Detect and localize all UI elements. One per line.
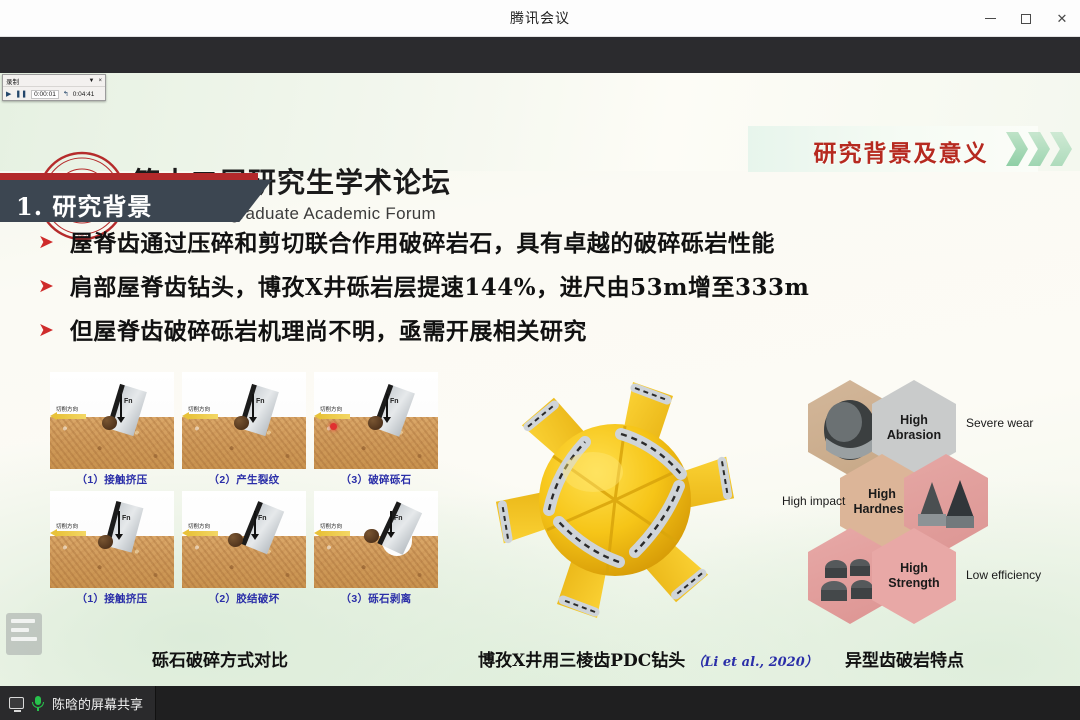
cutting-direction-arrow-icon — [56, 414, 86, 419]
figure-area: Fn 切削方向 （1）接触挤压 — [0, 368, 1080, 686]
force-label: Fn — [394, 515, 403, 522]
bullet-arrow-icon: ➤ — [38, 228, 54, 258]
cutting-direction-label: 切削方向 — [320, 405, 350, 413]
shared-slide: 1953 第十二届研究生学术论坛 The 12th Postgraduate A… — [0, 73, 1080, 686]
rock-step-label: （3）砾石剥离 — [314, 591, 438, 606]
bullet-arrow-icon: ➤ — [38, 316, 54, 346]
section-banner-text: 研究背景及意义 — [786, 134, 1016, 168]
cutting-direction-group: 切削方向 — [320, 405, 350, 419]
hex-label: HighAbrasion — [887, 413, 941, 443]
close-icon[interactable]: × — [98, 78, 102, 84]
normal-force-arrow-icon — [120, 394, 122, 418]
rock-cell: Fn 切削方向 （1）接触挤压 — [50, 372, 174, 487]
chevron-down-icon[interactable]: ▼ — [89, 78, 95, 84]
caption-center: 博孜X井用三棱齿PDC钻头（Li et al., 2020） — [478, 646, 818, 671]
rock-diagram: Fn 切削方向 — [182, 372, 306, 469]
caption-center-text: 博孜X井用三棱齿PDC钻头 — [478, 651, 685, 671]
screen-share-task[interactable]: 陈晗的屏幕共享 — [0, 686, 156, 720]
cutting-direction-group: 切削方向 — [320, 522, 350, 536]
rock-diagram: Fn 切削方向 — [314, 491, 438, 588]
cutter-characteristics-figure: HighAbrasion Severe wear HighHardness Hi… — [790, 372, 1075, 637]
rock-cell: Fn 切削方向 （3）破碎砾石 — [314, 372, 438, 487]
hex-label: HighStrength — [888, 561, 939, 591]
cutting-direction-arrow-icon — [188, 414, 218, 419]
recording-widget[interactable]: 录制 ▼ × ▶ ❚❚ 0:00:01 ↰ 0:04:41 — [2, 74, 106, 101]
play-icon[interactable]: ▶ — [6, 90, 11, 98]
cutting-direction-group: 切削方向 — [56, 522, 86, 536]
caption-left: 砾石破碎方式对比 — [152, 646, 288, 671]
elapsed-time: 0:00:01 — [31, 90, 59, 99]
chevron-right-icon-3 — [1050, 132, 1072, 166]
bullet-text: 屋脊齿通过压碎和剪切联合作用破碎岩石，具有卓越的破碎砾岩性能 — [70, 228, 775, 260]
close-icon: ✕ — [1057, 11, 1068, 27]
caption-citation: （Li et al., 2020） — [691, 655, 818, 670]
rock-diagram: Fn 切削方向 — [50, 491, 174, 588]
force-label: Fn — [122, 515, 131, 522]
floating-toolbar-overlay[interactable] — [6, 613, 42, 655]
pause-icon[interactable]: ❚❚ — [15, 90, 27, 98]
normal-force-arrow-icon — [252, 394, 254, 418]
rock-step-label: （1）接触挤压 — [50, 591, 174, 606]
normal-force-arrow-icon — [118, 511, 120, 535]
hex-label: HighHardness — [854, 487, 911, 517]
section-title-text: 1. 研究背景 — [16, 187, 152, 222]
force-label: Fn — [256, 398, 265, 405]
rock-row-2: Fn 切削方向 （1）接触挤压 — [50, 491, 440, 606]
rock-step-label: （2）产生裂纹 — [182, 472, 306, 487]
cutting-direction-group: 切削方向 — [188, 522, 218, 536]
normal-force-arrow-icon — [386, 394, 388, 418]
window-title: 腾讯会议 — [510, 8, 570, 28]
list-item: ➤ 屋脊齿通过压碎和剪切联合作用破碎岩石，具有卓越的破碎砾岩性能 — [38, 228, 1048, 260]
rock-cell: Fn 切削方向 （3）砾石剥离 — [314, 491, 438, 606]
rock-row-1: Fn 切削方向 （1）接触挤压 — [50, 372, 440, 487]
recording-widget-controls: ▶ ❚❚ 0:00:01 ↰ 0:04:41 — [3, 86, 105, 101]
cutting-direction-group: 切削方向 — [56, 405, 86, 419]
cutting-direction-label: 切削方向 — [188, 522, 218, 530]
minimize-button[interactable] — [972, 0, 1008, 37]
section-banner: 研究背景及意义 — [740, 126, 1080, 172]
cutting-direction-arrow-icon — [320, 531, 350, 536]
cutting-direction-label: 切削方向 — [188, 405, 218, 413]
rock-cell: Fn 切削方向 （2）产生裂纹 — [182, 372, 306, 487]
microphone-icon[interactable] — [31, 695, 45, 711]
normal-force-arrow-icon — [254, 511, 256, 535]
pdc-drill-bit-image — [455, 368, 775, 640]
app-window: 腾讯会议 ✕ 1953 第十二届研究生学术论坛 The 12th — [0, 0, 1080, 720]
label-high-impact: High impact — [782, 494, 845, 508]
bullet-text: 但屋脊齿破碎砾岩机理尚不明，亟需开展相关研究 — [70, 316, 587, 348]
rock-diagram: Fn 切削方向 — [50, 372, 174, 469]
toolbar-line — [11, 619, 35, 623]
cutting-direction-label: 切削方向 — [56, 405, 86, 413]
window-controls: ✕ — [972, 0, 1080, 37]
maximize-button[interactable] — [1008, 0, 1044, 37]
recording-widget-header: 录制 ▼ × — [3, 75, 105, 86]
section-title-bar: 1. 研究背景 — [0, 180, 272, 222]
cutting-direction-label: 切削方向 — [320, 522, 350, 530]
label-severe-wear: Severe wear — [966, 416, 1033, 430]
bullet-list: ➤ 屋脊齿通过压碎和剪切联合作用破碎岩石，具有卓越的破碎砾岩性能 ➤ 肩部屋脊齿… — [38, 228, 1048, 360]
rock-breaking-figure: Fn 切削方向 （1）接触挤压 — [50, 372, 440, 610]
cutting-direction-group: 切削方向 — [188, 405, 218, 419]
force-label: Fn — [124, 398, 133, 405]
rock-step-label: （3）破碎砾石 — [314, 472, 438, 487]
rewind-icon[interactable]: ↰ — [63, 90, 69, 98]
monitor-icon — [9, 697, 24, 709]
window-titlebar: 腾讯会议 ✕ — [0, 0, 1080, 37]
fracture-point-marker — [330, 423, 337, 430]
taskbar: 陈晗的屏幕共享 — [0, 686, 1080, 720]
force-label: Fn — [390, 398, 399, 405]
label-low-efficiency: Low efficiency — [966, 568, 1041, 582]
maximize-icon — [1021, 14, 1031, 24]
rock-cell: Fn 切削方向 （1）接触挤压 — [50, 491, 174, 606]
minimize-icon — [985, 18, 996, 19]
bullet-text: 肩部屋脊齿钻头，博孜X井砾岩层提速144%，进尺由53m增至333m — [70, 272, 809, 304]
total-time: 0:04:41 — [73, 91, 95, 98]
normal-force-arrow-icon — [390, 511, 392, 533]
toolbar-line — [11, 628, 29, 632]
rock-step-label: （2）胶结破坏 — [182, 591, 306, 606]
conglomerate-rock — [314, 536, 438, 588]
cutting-direction-arrow-icon — [320, 414, 350, 419]
section-red-rule — [0, 173, 258, 180]
list-item: ➤ 肩部屋脊齿钻头，博孜X井砾岩层提速144%，进尺由53m增至333m — [38, 272, 1048, 304]
screen-share-label: 陈晗的屏幕共享 — [52, 694, 143, 713]
bullet-arrow-icon: ➤ — [38, 272, 54, 302]
rock-diagram: Fn 切削方向 — [182, 491, 306, 588]
recording-label: 录制 — [6, 76, 89, 86]
close-button[interactable]: ✕ — [1044, 0, 1080, 37]
meeting-black-band — [0, 37, 1080, 73]
list-item: ➤ 但屋脊齿破碎砾岩机理尚不明，亟需开展相关研究 — [38, 316, 1048, 348]
cutting-direction-arrow-icon — [188, 531, 218, 536]
toolbar-line — [11, 637, 37, 641]
force-label: Fn — [258, 515, 267, 522]
cutting-direction-arrow-icon — [56, 531, 86, 536]
rock-step-label: （1）接触挤压 — [50, 472, 174, 487]
cutting-direction-label: 切削方向 — [56, 522, 86, 530]
rock-diagram: Fn 切削方向 — [314, 372, 438, 469]
caption-right: 异型齿破岩特点 — [845, 646, 964, 671]
rock-cell: Fn 切削方向 （2）胶结破坏 — [182, 491, 306, 606]
